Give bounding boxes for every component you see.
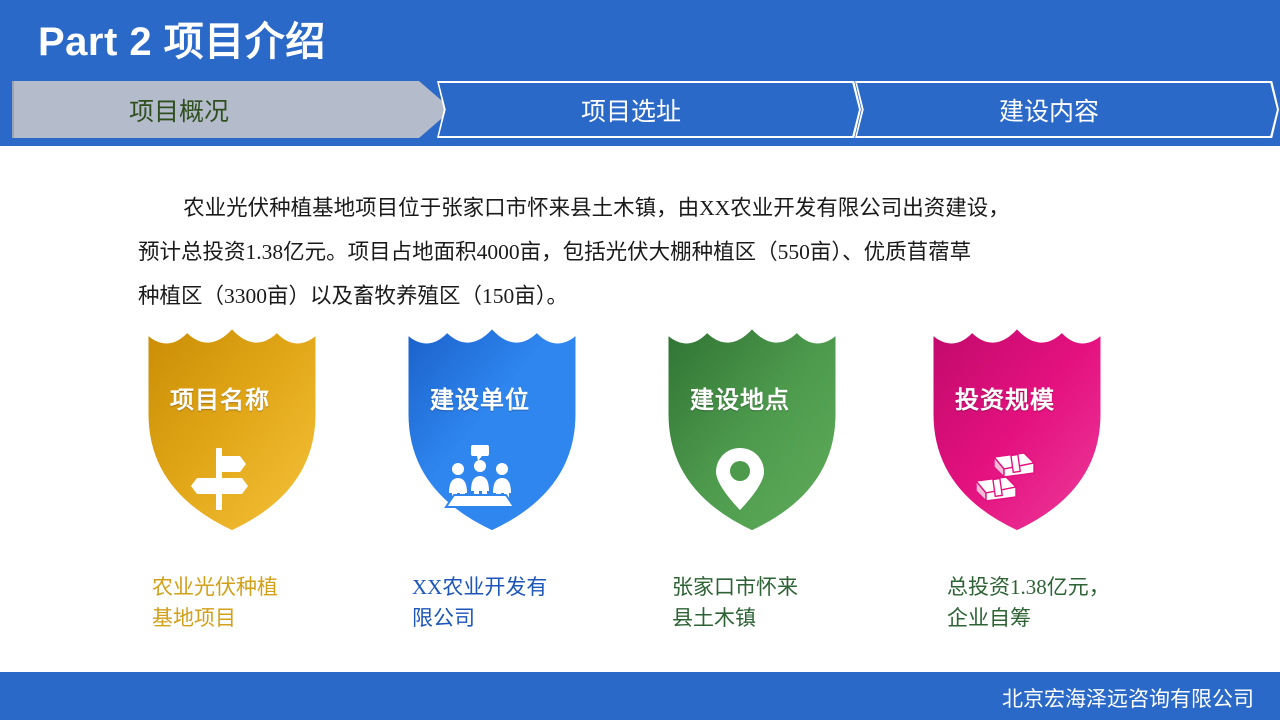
caption-line: 企业自筹 — [947, 603, 1162, 634]
card-caption: 张家口市怀来 县土木镇 — [672, 572, 887, 634]
caption-line: 限公司 — [412, 603, 627, 634]
paragraph-line: 预计总投资1.38亿元。项目占地面积4000亩，包括光伏大棚种植区（550亩）、… — [138, 230, 1138, 274]
caption-line: 农业光伏种植 — [152, 572, 367, 603]
overview-paragraph: 农业光伏种植基地项目位于张家口市怀来县土木镇，由XX农业开发有限公司出资建设， … — [138, 186, 1138, 318]
caption-line: 基地项目 — [152, 603, 367, 634]
caption-line: 张家口市怀来 — [672, 572, 887, 603]
shield-shape — [657, 318, 847, 540]
slide-root: Part 2 项目介绍 项目概况 项目选址 建设内容 农业光伏种植基地项目位于张… — [0, 0, 1280, 720]
card-caption: 总投资1.38亿元， 企业自筹 — [947, 572, 1162, 634]
footer-band: 北京宏海泽远咨询有限公司 — [0, 672, 1280, 720]
shield-card-group: 项目名称 — [0, 318, 1280, 568]
caption-line: XX农业开发有 — [412, 572, 627, 603]
tab-project-site[interactable]: 项目选址 — [437, 81, 861, 138]
tab-label: 项目选址 — [581, 92, 681, 128]
tab-project-overview[interactable]: 项目概况 — [12, 81, 452, 138]
card-caption: XX农业开发有 限公司 — [412, 572, 627, 634]
footer-company-name: 北京宏海泽远咨询有限公司 — [1002, 683, 1254, 713]
shield-shape — [137, 318, 327, 540]
paragraph-line: 农业光伏种植基地项目位于张家口市怀来县土木镇，由XX农业开发有限公司出资建设， — [138, 186, 1138, 230]
nav-band: 项目概况 项目选址 建设内容 — [0, 73, 1280, 146]
shield-card[interactable]: 项目名称 — [125, 318, 340, 548]
tab-label: 建设内容 — [999, 92, 1099, 128]
shield-card[interactable]: 建设地点 — [645, 318, 860, 548]
paragraph-line: 种植区（3300亩）以及畜牧养殖区（150亩）。 — [138, 274, 1138, 318]
shield-shape — [922, 318, 1112, 540]
shield-shape — [397, 318, 587, 540]
page-title: Part 2 项目介绍 — [38, 9, 326, 67]
caption-line: 总投资1.38亿元， — [947, 572, 1162, 603]
card-caption: 农业光伏种植 基地项目 — [152, 572, 367, 634]
shield-card[interactable]: 投资规模 — [910, 318, 1125, 548]
shield-card[interactable]: 建设单位 — [385, 318, 600, 548]
tab-construction-content[interactable]: 建设内容 — [855, 81, 1279, 138]
caption-line: 县土木镇 — [672, 603, 887, 634]
tab-label: 项目概况 — [129, 92, 229, 128]
